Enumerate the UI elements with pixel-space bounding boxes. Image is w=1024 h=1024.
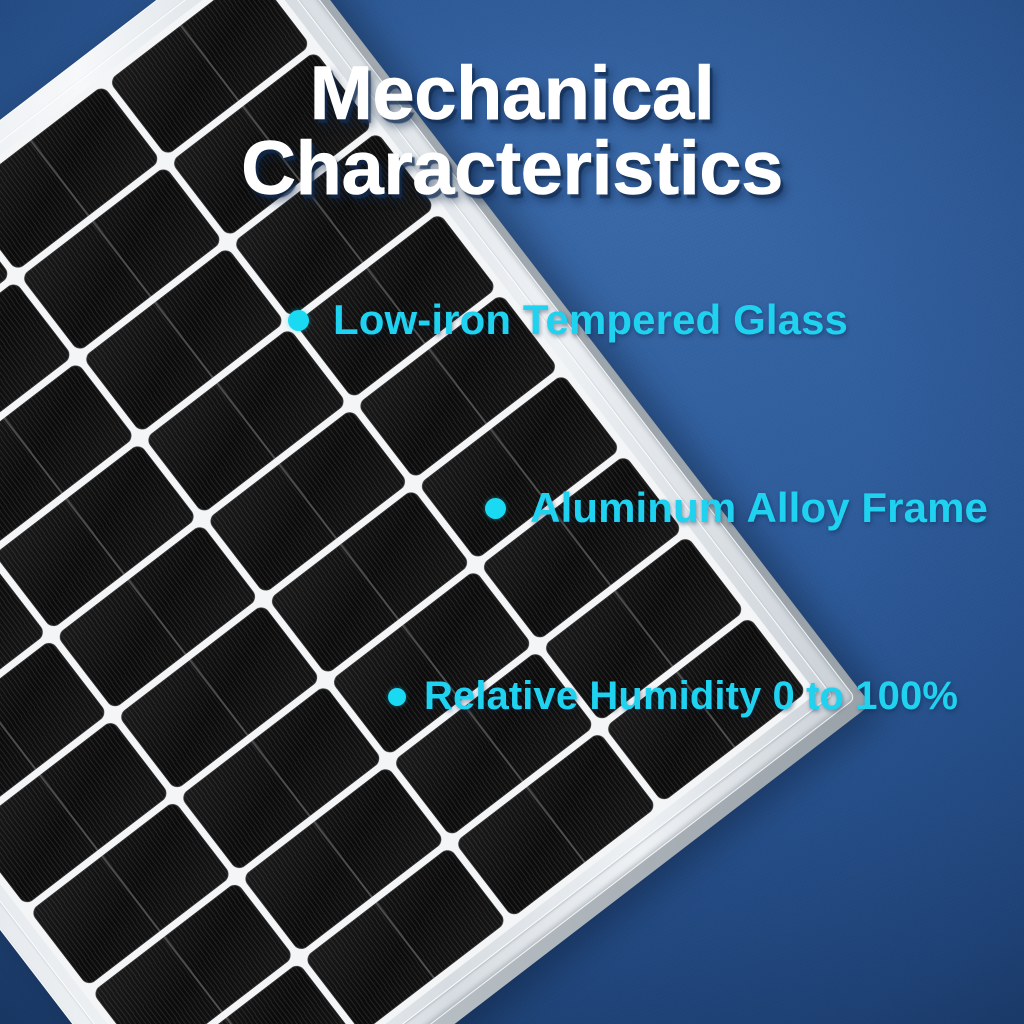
marketing-banner: Mechanical Characteristics Low-iron Temp… xyxy=(0,0,1024,1024)
feature-label: Relative Humidity 0 to 100% xyxy=(424,674,958,719)
bullet-dot-icon xyxy=(288,310,309,331)
page-title: Mechanical Characteristics xyxy=(0,56,1024,206)
feature-list: Low-iron Tempered Glass Aluminum Alloy F… xyxy=(0,296,1006,1024)
bullet-dot-icon xyxy=(485,498,506,519)
list-item: Low-iron Tempered Glass xyxy=(288,296,848,344)
feature-label: Aluminum Alloy Frame xyxy=(530,484,988,532)
list-item: Aluminum Alloy Frame xyxy=(485,484,988,532)
bullet-dot-icon xyxy=(388,688,406,706)
list-item: Relative Humidity 0 to 100% xyxy=(388,674,958,719)
page-title-line-1: Mechanical xyxy=(310,51,715,136)
page-title-line-2: Characteristics xyxy=(0,131,1024,206)
feature-label: Low-iron Tempered Glass xyxy=(333,296,848,344)
